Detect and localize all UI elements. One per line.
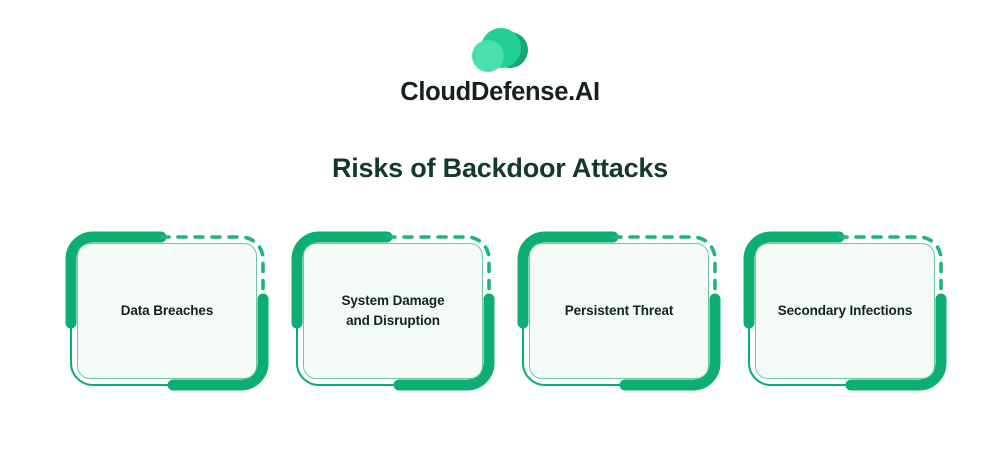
card-inner-panel: Persistent Threat — [529, 243, 709, 379]
page-title: Risks of Backdoor Attacks — [0, 152, 1000, 184]
card-inner-panel: Data Breaches — [77, 243, 257, 379]
card-inner-panel: System Damage and Disruption — [303, 243, 483, 379]
risk-card[interactable]: System Damage and Disruption — [291, 231, 495, 391]
risk-card[interactable]: Persistent Threat — [517, 231, 721, 391]
infographic-page: CloudDefense.AI Risks of Backdoor Attack… — [0, 0, 1000, 463]
card-label: System Damage and Disruption — [331, 291, 454, 330]
cloud-logo-icon — [464, 26, 536, 74]
card-label: Secondary Infections — [768, 301, 923, 321]
risk-card[interactable]: Secondary Infections — [743, 231, 947, 391]
cards-row: Data Breaches System Damage and Disrupti… — [65, 231, 941, 391]
card-inner-panel: Secondary Infections — [755, 243, 935, 379]
brand-block: CloudDefense.AI — [0, 26, 1000, 106]
card-label: Persistent Threat — [555, 301, 684, 321]
card-label: Data Breaches — [111, 301, 224, 321]
risk-card[interactable]: Data Breaches — [65, 231, 269, 391]
brand-name: CloudDefense.AI — [400, 80, 600, 106]
